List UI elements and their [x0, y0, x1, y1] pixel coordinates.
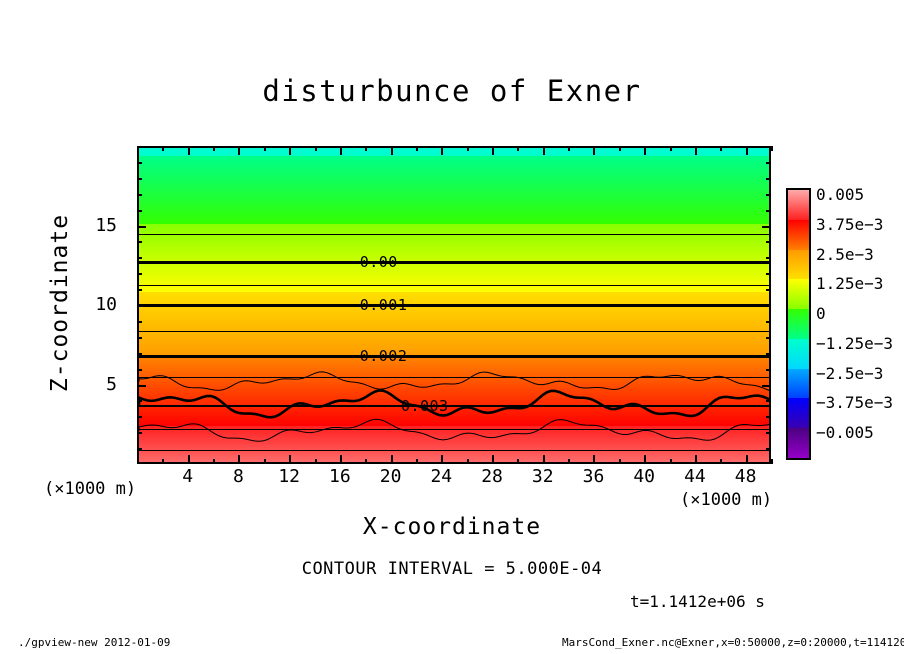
x-tick-label: 40 — [624, 466, 664, 487]
colorbar-band — [788, 309, 809, 339]
y-tick — [766, 289, 771, 291]
colorbar — [786, 188, 811, 460]
y-tick — [766, 416, 771, 418]
y-tick — [137, 337, 142, 339]
x-tick — [162, 459, 164, 464]
y-tick — [137, 226, 146, 228]
x-tick — [238, 455, 240, 464]
x-tick — [695, 455, 697, 464]
y-tick — [766, 448, 771, 450]
y-tick — [137, 400, 142, 402]
wavy-contours — [139, 148, 771, 464]
x-tick — [188, 146, 190, 155]
x-tick — [264, 459, 266, 464]
x-tick — [365, 459, 367, 464]
x-tick — [593, 146, 595, 155]
x-axis-title: X-coordinate — [0, 514, 904, 540]
fill-band — [139, 462, 769, 464]
y-tick — [137, 305, 146, 307]
y-tick — [766, 194, 771, 196]
x-tick-label: 48 — [726, 466, 766, 487]
x-tick-label: 4 — [168, 466, 208, 487]
x-tick — [315, 146, 317, 151]
y-tick — [137, 385, 146, 387]
y-tick — [766, 273, 771, 275]
y-tick — [766, 241, 771, 243]
y-tick — [766, 257, 771, 259]
x-tick — [289, 455, 291, 464]
y-tick — [766, 369, 771, 371]
contour-interval-note: CONTOUR INTERVAL = 5.000E-04 — [0, 559, 904, 579]
y-tick — [137, 241, 142, 243]
y-tick — [766, 321, 771, 323]
y-tick — [762, 385, 771, 387]
page-title: disturbunce of Exner — [0, 74, 904, 108]
contour-label: 0.001 — [358, 296, 410, 314]
x-tick-label: 20 — [371, 466, 411, 487]
x-tick-label: 32 — [523, 466, 563, 487]
x-unit-label-left: (×1000 m) — [44, 479, 136, 499]
colorbar-tick-label: −2.5e−3 — [816, 364, 883, 383]
x-tick — [441, 455, 443, 464]
x-tick — [467, 459, 469, 464]
colorbar-tick-label: 0 — [816, 304, 826, 323]
y-tick-label: 15 — [69, 215, 117, 236]
colorbar-band — [788, 428, 809, 458]
x-tick — [619, 146, 621, 151]
x-unit-label-right: (×1000 m) — [680, 490, 772, 510]
colorbar-band — [788, 398, 809, 428]
x-tick-label: 44 — [675, 466, 715, 487]
y-tick — [137, 178, 142, 180]
x-tick-label: 16 — [320, 466, 360, 487]
colorbar-tick-label: 1.25e−3 — [816, 274, 883, 293]
y-tick — [766, 432, 771, 434]
x-tick — [162, 146, 164, 151]
colorbar-band — [788, 279, 809, 309]
colorbar-tick-label: −3.75e−3 — [816, 393, 893, 412]
contour-label: 0.00 — [358, 253, 400, 271]
y-tick — [137, 273, 142, 275]
colorbar-tick-label: 3.75e−3 — [816, 215, 883, 234]
x-tick — [746, 455, 748, 464]
x-tick — [644, 146, 646, 155]
x-tick — [670, 146, 672, 151]
x-tick — [441, 146, 443, 155]
x-tick — [467, 146, 469, 151]
y-tick-label: 10 — [69, 294, 117, 315]
y-tick — [137, 448, 142, 450]
y-tick — [137, 369, 142, 371]
y-tick — [137, 353, 142, 355]
y-tick — [137, 416, 142, 418]
x-tick — [568, 459, 570, 464]
x-tick — [593, 455, 595, 464]
x-tick — [365, 146, 367, 151]
x-tick — [543, 146, 545, 155]
colorbar-tick-label: 0.005 — [816, 185, 864, 204]
x-tick — [289, 146, 291, 155]
x-tick-label: 24 — [421, 466, 461, 487]
footer-command: ./gpview-new 2012-01-09 — [18, 636, 170, 649]
x-tick — [619, 459, 621, 464]
colorbar-tick-label: −1.25e−3 — [816, 334, 893, 353]
x-tick — [771, 459, 773, 464]
y-tick — [766, 400, 771, 402]
time-stamp: t=1.1412e+06 s — [630, 592, 765, 611]
x-tick — [315, 459, 317, 464]
contour-label: 0.003 — [399, 397, 451, 415]
x-tick — [492, 455, 494, 464]
y-tick — [762, 305, 771, 307]
colorbar-band — [788, 250, 809, 280]
x-tick — [416, 459, 418, 464]
x-tick — [568, 146, 570, 151]
y-tick — [137, 162, 142, 164]
x-tick — [264, 146, 266, 151]
colorbar-band — [788, 190, 809, 220]
x-tick — [213, 146, 215, 151]
x-tick — [492, 146, 494, 155]
y-tick — [766, 337, 771, 339]
x-tick-label: 36 — [573, 466, 613, 487]
y-tick-label: 5 — [69, 374, 117, 395]
colorbar-band — [788, 339, 809, 369]
colorbar-tick-label: −0.005 — [816, 423, 874, 442]
y-tick — [766, 353, 771, 355]
colorbar-band — [788, 369, 809, 399]
x-tick-label: 12 — [269, 466, 309, 487]
x-tick — [416, 146, 418, 151]
x-tick-label: 28 — [472, 466, 512, 487]
x-tick — [340, 146, 342, 155]
x-tick — [670, 459, 672, 464]
x-tick — [391, 455, 393, 464]
x-tick — [238, 146, 240, 155]
colorbar-band — [788, 220, 809, 250]
x-tick — [720, 459, 722, 464]
x-tick — [746, 146, 748, 155]
footer-source: MarsCond_Exner.nc@Exner,x=0:50000,z=0:20… — [562, 636, 904, 649]
x-tick — [720, 146, 722, 151]
y-tick — [137, 432, 142, 434]
y-tick — [137, 321, 142, 323]
x-tick-label: 8 — [218, 466, 258, 487]
y-tick — [766, 210, 771, 212]
x-tick — [213, 459, 215, 464]
contour-label: 0.002 — [358, 347, 410, 365]
x-tick — [543, 455, 545, 464]
plot-area: 0.000.0010.0020.003 — [137, 146, 771, 464]
x-tick — [517, 459, 519, 464]
x-tick — [340, 455, 342, 464]
y-tick — [766, 178, 771, 180]
x-tick — [644, 455, 646, 464]
x-tick — [188, 455, 190, 464]
x-tick — [695, 146, 697, 155]
y-tick — [766, 162, 771, 164]
x-tick — [517, 146, 519, 151]
x-tick — [391, 146, 393, 155]
colorbar-tick-label: 2.5e−3 — [816, 245, 874, 264]
y-tick — [137, 257, 142, 259]
contour-fill: 0.000.0010.0020.003 — [139, 148, 769, 462]
x-tick — [771, 146, 773, 151]
y-tick — [762, 226, 771, 228]
y-tick — [137, 210, 142, 212]
y-tick — [137, 289, 142, 291]
y-tick — [137, 194, 142, 196]
